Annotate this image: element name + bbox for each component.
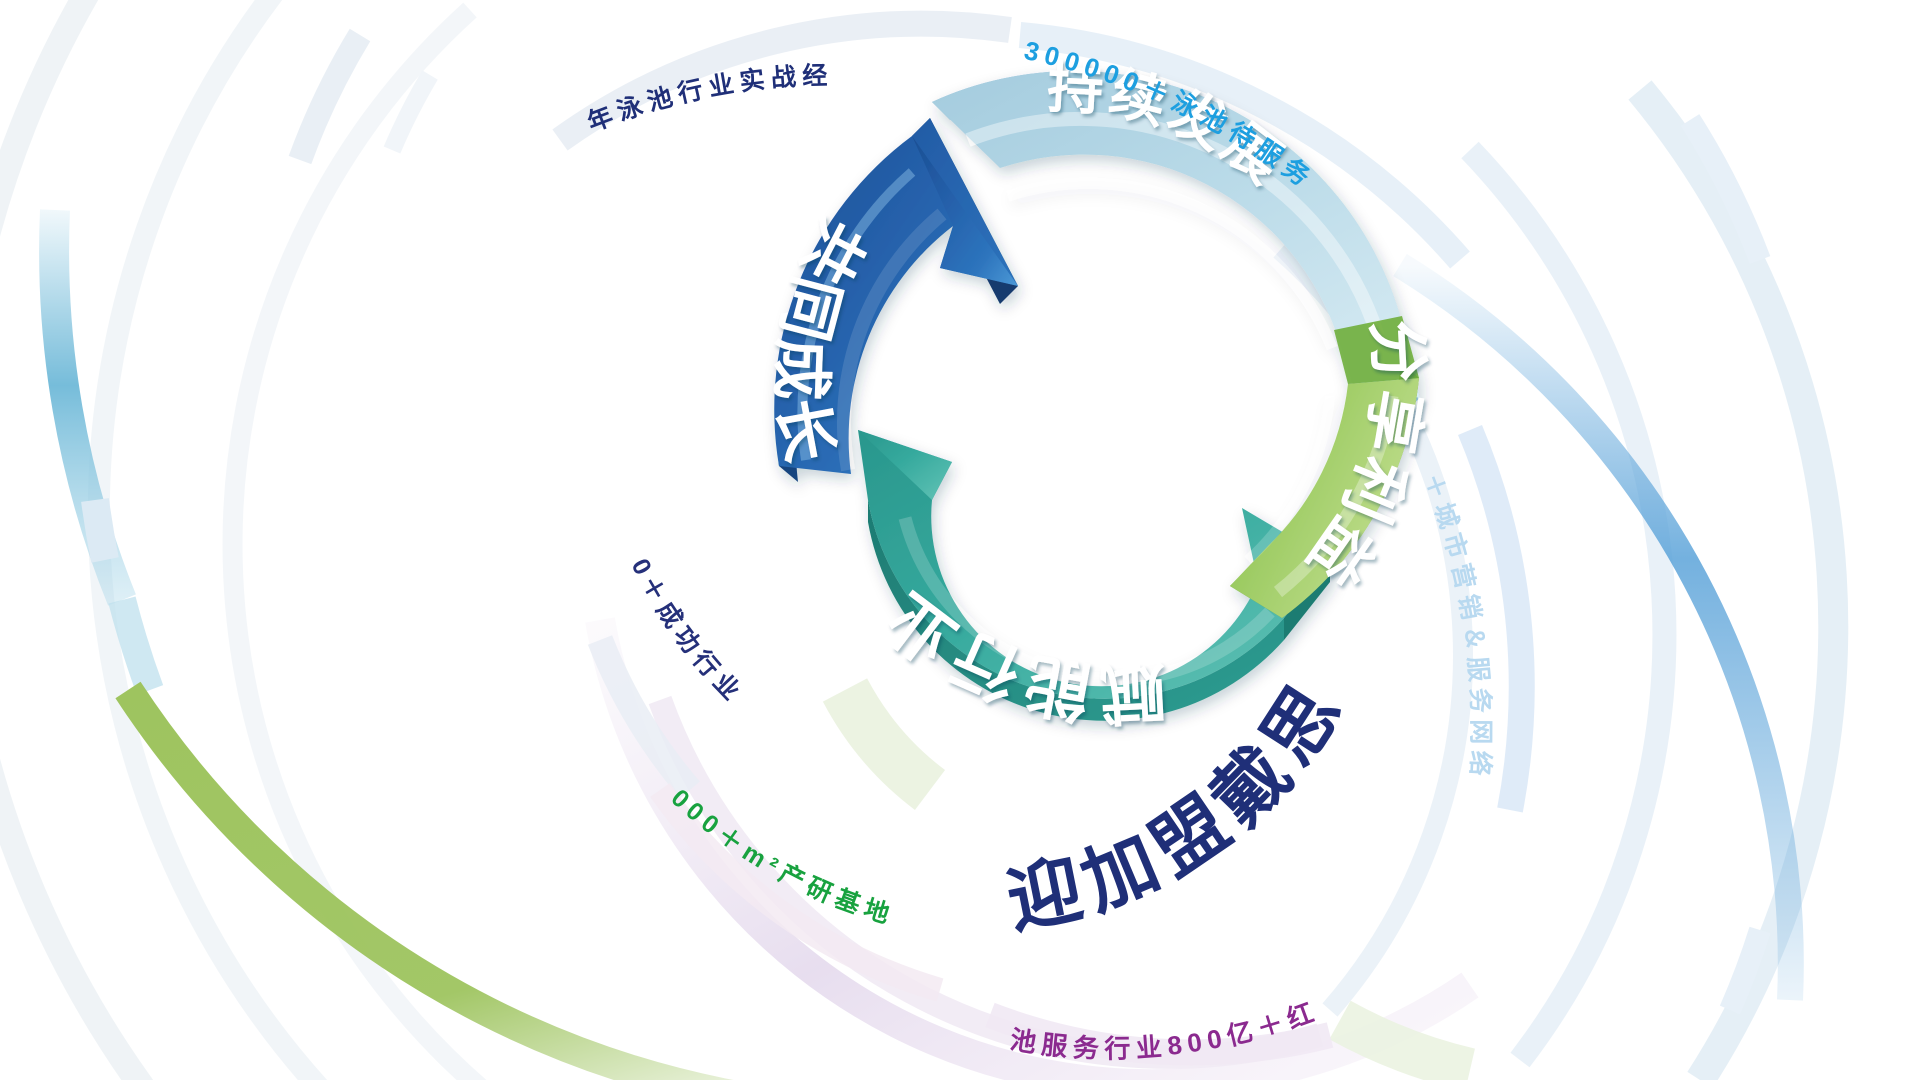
stat-base: 70000＋m²产研基地赋能 bbox=[0, 0, 898, 931]
stat-cities: 53＋城市营销＆服务网络支持 bbox=[0, 0, 1495, 782]
stat-labels-layer: 30年泳池行业实战经验 300000＋泳池待服务 53＋城市营销＆服务网络支持 … bbox=[0, 0, 1920, 1080]
stat-pools: 300000＋泳池待服务 bbox=[1021, 35, 1320, 195]
poster-canvas: 共同成长 持续发展 分享利益 赋能行业 30年泳池行业实战经验 bbox=[0, 0, 1920, 1080]
stat-experience: 30年泳池行业实战经验 bbox=[0, 0, 834, 137]
